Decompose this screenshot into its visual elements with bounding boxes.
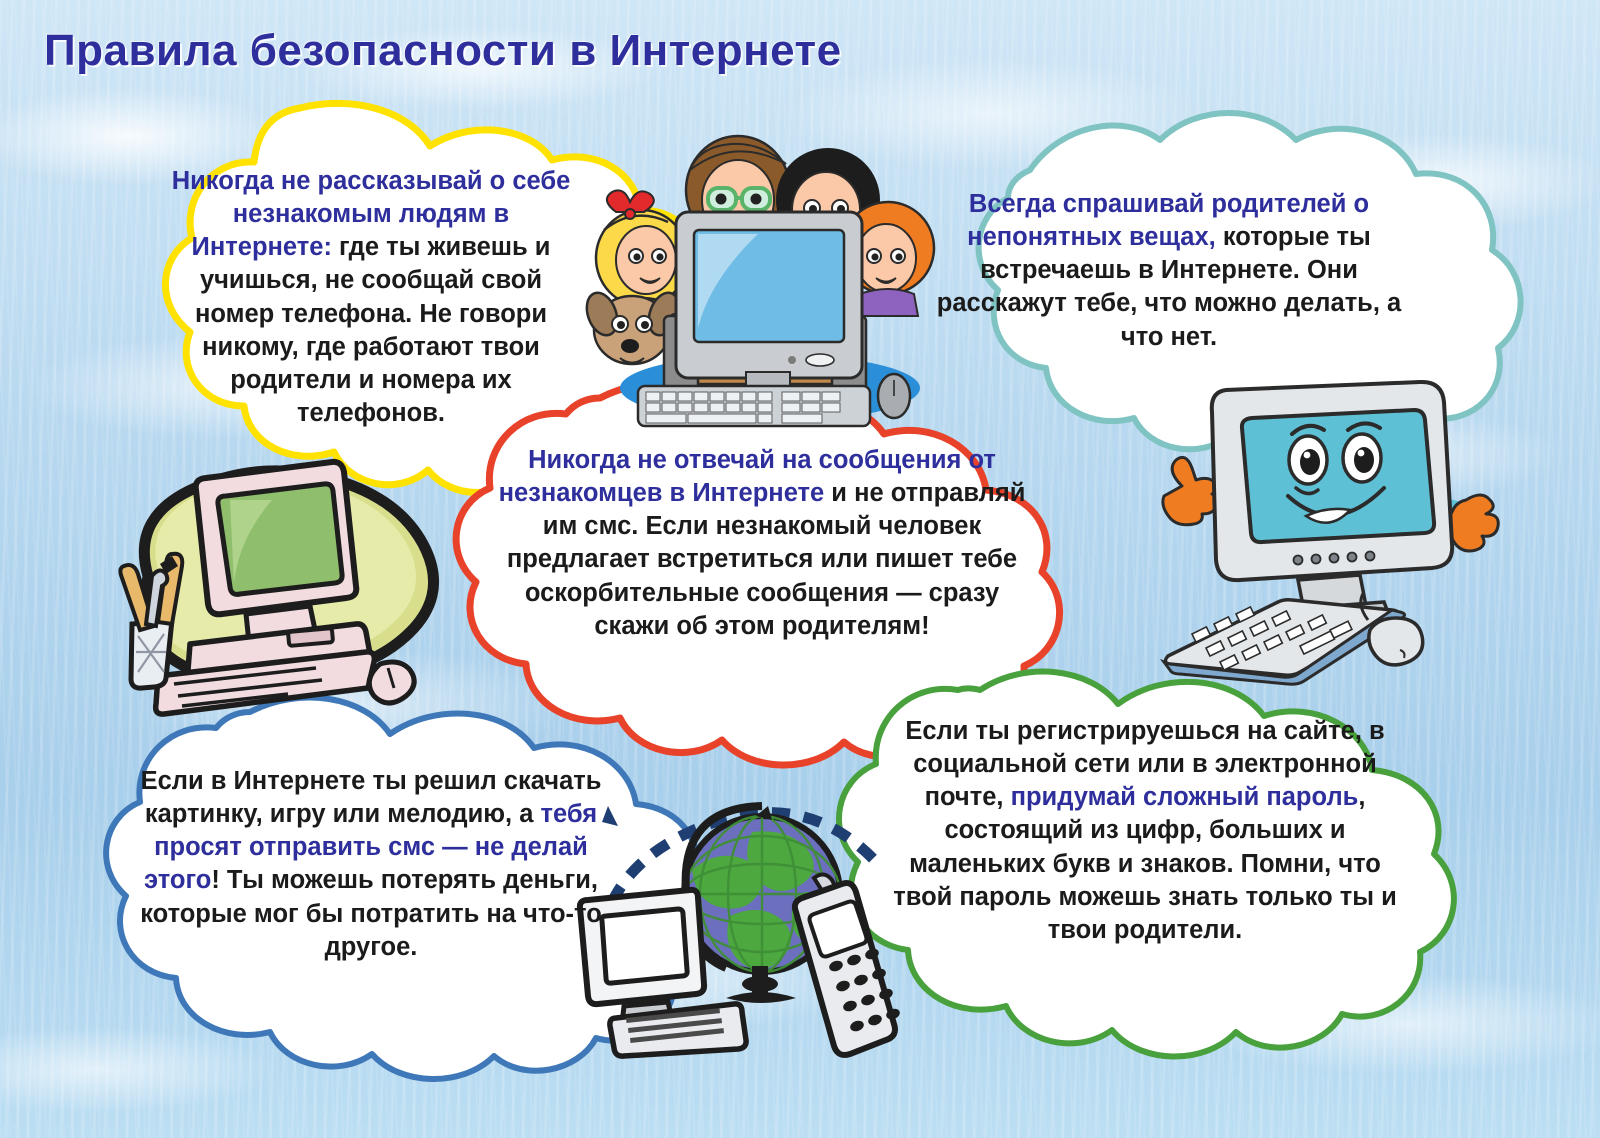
- rule-text-password: Если ты регистрируешься на сайте, в соци…: [880, 715, 1410, 947]
- rule-segment-0: Если в Интернете ты решил скачать картин…: [141, 767, 602, 828]
- rule-text-never-reply: Никогда не отвечай на сообщения от незна…: [492, 444, 1032, 643]
- internet-safety-poster: Правила безопасности в Интернете Никогда…: [0, 0, 1600, 1138]
- rule-text-personal-info: Никогда не рассказывай о себе незнакомым…: [168, 165, 574, 430]
- rule-segment-1: где ты живешь и учишься, не сообщай свой…: [195, 233, 551, 427]
- page-title: Правила безопасности в Интернете: [44, 26, 842, 76]
- rule-text-ask-parents: Всегда спрашивай родителей о непонятных …: [935, 188, 1403, 354]
- rule-segment-1: придумай сложный пароль: [1011, 783, 1359, 811]
- rule-text-no-sms: Если в Интернете ты решил скачать картин…: [136, 765, 606, 964]
